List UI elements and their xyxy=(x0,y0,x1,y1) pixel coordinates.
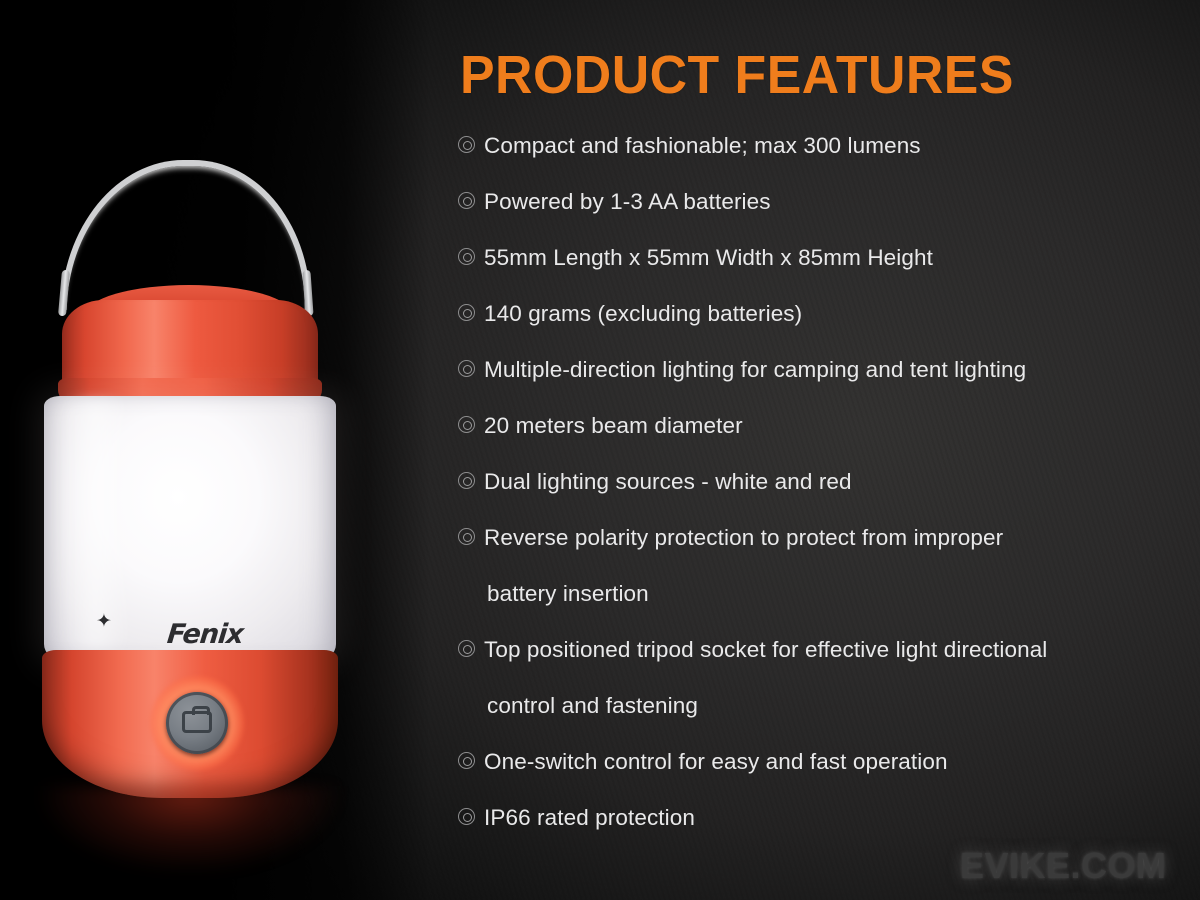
bullet-ring-icon xyxy=(458,472,475,489)
feature-text: Reverse polarity protection to protect f… xyxy=(484,525,1200,551)
page-title: PRODUCT FEATURES xyxy=(460,44,1014,106)
feature-text: 55mm Length x 55mm Width x 85mm Height xyxy=(484,245,1200,271)
bullet-ring-icon xyxy=(458,304,475,321)
feature-text: 140 grams (excluding batteries) xyxy=(484,301,1200,327)
bullet-ring-icon xyxy=(458,248,475,265)
feature-text: Compact and fashionable; max 300 lumens xyxy=(484,133,1200,159)
feature-item: 140 grams (excluding batteries) xyxy=(455,301,1200,357)
feature-text: One-switch control for easy and fast ope… xyxy=(484,749,1200,775)
bullet-ring-icon xyxy=(458,808,475,825)
bullet-ring-icon xyxy=(458,752,475,769)
feature-text: Multiple-direction lighting for camping … xyxy=(484,357,1200,383)
fenix-brand-logo: Fenix xyxy=(138,618,272,652)
lantern-diffuser-highlight xyxy=(60,400,130,650)
bullet-ring-icon xyxy=(458,416,475,433)
feature-text: Dual lighting sources - white and red xyxy=(484,469,1200,495)
feature-item: Top positioned tripod socket for effecti… xyxy=(455,637,1200,693)
feature-item: One-switch control for easy and fast ope… xyxy=(455,749,1200,805)
feature-text: 20 meters beam diameter xyxy=(484,413,1200,439)
feature-text: control and fastening xyxy=(487,693,1200,719)
content-column: PRODUCT FEATURES Compact and fashionable… xyxy=(455,0,1200,900)
lantern-power-switch xyxy=(166,692,228,754)
feature-item: Dual lighting sources - white and red xyxy=(455,469,1200,525)
feature-item: 20 meters beam diameter xyxy=(455,413,1200,469)
feature-text: IP66 rated protection xyxy=(484,805,1200,831)
feature-item: Reverse polarity protection to protect f… xyxy=(455,525,1200,581)
floor-reflection-glow xyxy=(40,786,340,872)
bullet-ring-icon xyxy=(458,360,475,377)
power-button-icon xyxy=(182,711,212,733)
feature-item: Compact and fashionable; max 300 lumens xyxy=(455,133,1200,189)
feature-item: 55mm Length x 55mm Width x 85mm Height xyxy=(455,245,1200,301)
feature-item-continuation: control and fastening xyxy=(455,693,1200,749)
feature-text: Top positioned tripod socket for effecti… xyxy=(484,637,1200,663)
feature-item: Multiple-direction lighting for camping … xyxy=(455,357,1200,413)
bullet-ring-icon xyxy=(458,640,475,657)
feature-text: Powered by 1-3 AA batteries xyxy=(484,189,1200,215)
bullet-ring-icon xyxy=(458,136,475,153)
bullet-ring-icon xyxy=(458,192,475,209)
product-feature-slide: ✦ Fenix PRODUCT FEATURES Compact and fas… xyxy=(0,0,1200,900)
product-image-lantern: ✦ Fenix xyxy=(0,0,430,900)
feature-item: Powered by 1-3 AA batteries xyxy=(455,189,1200,245)
feature-item-continuation: battery insertion xyxy=(455,581,1200,637)
feature-list: Compact and fashionable; max 300 lumens … xyxy=(455,133,1200,861)
feature-text: battery insertion xyxy=(487,581,1200,607)
bullet-ring-icon xyxy=(458,528,475,545)
evike-watermark: EVIKE.COM xyxy=(960,845,1167,887)
